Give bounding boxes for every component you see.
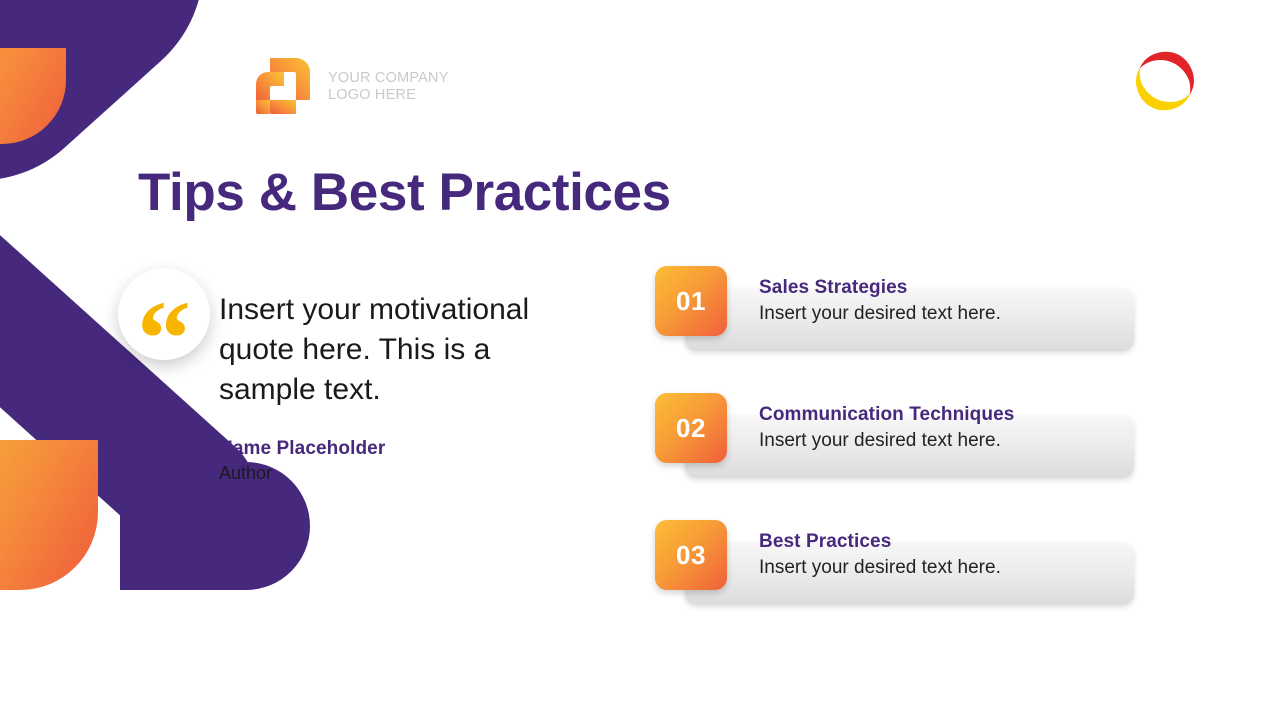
list-item[interactable]: 02 Communication Techniques Insert your … xyxy=(655,393,1155,489)
company-logo-placeholder-text: YOUR COMPANY LOGO HERE xyxy=(328,70,449,104)
numbered-card-list: 01 Sales Strategies Insert your desired … xyxy=(655,266,1155,616)
card-title: Sales Strategies xyxy=(759,275,1139,300)
card-number-badge: 01 xyxy=(655,266,727,336)
quote-author-name: Name Placeholder xyxy=(219,438,581,460)
overlapping-squares-icon xyxy=(240,56,312,118)
quote-author-role: Author xyxy=(219,463,581,484)
card-description: Insert your desired text here. xyxy=(759,428,1139,454)
quote-block: Insert your motivational quote here. Thi… xyxy=(219,290,581,484)
list-item[interactable]: 03 Best Practices Insert your desired te… xyxy=(655,520,1155,616)
card-text-block: Communication Techniques Insert your des… xyxy=(759,402,1139,454)
slide-canvas: YOUR COMPANY LOGO HERE Tips & Best Pract… xyxy=(0,0,1280,720)
card-description: Insert your desired text here. xyxy=(759,555,1139,581)
card-title: Communication Techniques xyxy=(759,402,1139,427)
quotation-glyph: “ xyxy=(137,286,191,394)
ring-swoosh-icon xyxy=(1132,48,1198,114)
card-text-block: Best Practices Insert your desired text … xyxy=(759,529,1139,581)
page-title: Tips & Best Practices xyxy=(138,162,671,223)
quotation-mark-icon: “ xyxy=(118,268,210,360)
list-item[interactable]: 01 Sales Strategies Insert your desired … xyxy=(655,266,1155,362)
card-title: Best Practices xyxy=(759,529,1139,554)
card-number-badge: 03 xyxy=(655,520,727,590)
company-logo-block[interactable]: YOUR COMPANY LOGO HERE xyxy=(240,56,449,118)
quote-text: Insert your motivational quote here. Thi… xyxy=(219,290,581,410)
card-number-badge: 02 xyxy=(655,393,727,463)
decor-orange-teardrop-bottom-left xyxy=(0,440,98,590)
card-description: Insert your desired text here. xyxy=(759,301,1139,327)
card-text-block: Sales Strategies Insert your desired tex… xyxy=(759,275,1139,327)
decor-orange-teardrop-top-left xyxy=(0,48,66,144)
